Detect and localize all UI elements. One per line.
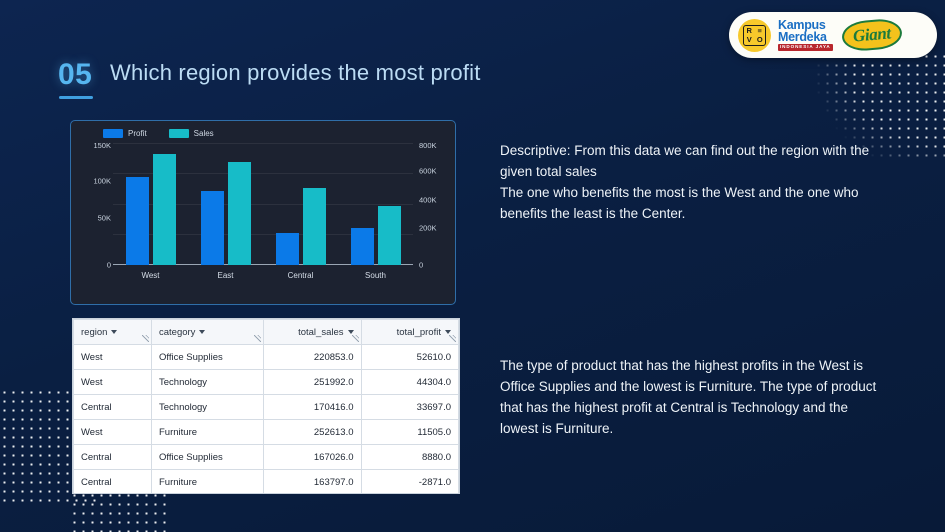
slide-number: 05 bbox=[58, 58, 92, 92]
table-cell-total_profit: 11505.0 bbox=[361, 420, 459, 445]
filter-dropdown-icon[interactable] bbox=[348, 330, 354, 334]
table-cell-total_sales: 167026.0 bbox=[264, 445, 362, 470]
table-cell-total_sales: 220853.0 bbox=[264, 345, 362, 370]
legend-item-sales[interactable]: Sales bbox=[169, 129, 214, 138]
table-body: WestOffice Supplies220853.052610.0WestTe… bbox=[74, 345, 459, 495]
table-cell-category: Office Supplies bbox=[152, 445, 264, 470]
table-cell-total_sales: 170416.0 bbox=[264, 395, 362, 420]
kampus-merdeka-tagline: INDONESIA JAYA bbox=[778, 44, 833, 51]
table-header-label: total_profit bbox=[397, 327, 441, 338]
table-row[interactable]: WestOffice Supplies220853.052610.0 bbox=[74, 345, 459, 370]
table-header-total_profit[interactable]: total_profit bbox=[361, 320, 459, 345]
axis-tick-label: 200K bbox=[419, 223, 437, 232]
slide-number-underline bbox=[59, 96, 93, 99]
slide-canvas: 05 Which region provides the most profit… bbox=[0, 0, 945, 532]
axis-tick-label: 0 bbox=[419, 261, 423, 270]
bar-group-central bbox=[276, 143, 326, 265]
table-cell-region: West bbox=[74, 345, 152, 370]
table-cell-total_profit: 44304.0 bbox=[361, 370, 459, 395]
x-axis-label-central: Central bbox=[271, 271, 331, 280]
bar-profit-central[interactable] bbox=[276, 233, 299, 265]
table-cell-total_profit: 8880.0 bbox=[361, 445, 459, 470]
table-cell-region: West bbox=[74, 370, 152, 395]
table-cell-category: Furniture bbox=[152, 470, 264, 495]
table-cell-total_sales: 163797.0 bbox=[264, 470, 362, 495]
bar-profit-south[interactable] bbox=[351, 228, 374, 265]
axis-tick-label: 0 bbox=[107, 260, 111, 269]
table-header-region[interactable]: region bbox=[74, 320, 152, 345]
table-cell-total_profit: -2871.0 bbox=[361, 470, 459, 495]
table-header-row: regioncategorytotal_salestotal_profit bbox=[74, 320, 459, 345]
revo-letter-v: V bbox=[744, 35, 755, 45]
table-cell-total_profit: 33697.0 bbox=[361, 395, 459, 420]
bar-group-east bbox=[201, 143, 251, 265]
table-cell-total_profit: 52610.0 bbox=[361, 345, 459, 370]
x-axis-label-south: South bbox=[346, 271, 406, 280]
table-header-label: category bbox=[159, 327, 195, 338]
x-axis-label-east: East bbox=[196, 271, 256, 280]
table-cell-category: Technology bbox=[152, 395, 264, 420]
legend-item-profit[interactable]: Profit bbox=[103, 129, 147, 138]
giant-logo-text: Giant bbox=[852, 23, 891, 45]
bar-group-south bbox=[351, 143, 401, 265]
kampus-merdeka-logo: Kampus Merdeka INDONESIA JAYA bbox=[778, 19, 833, 51]
revo-logo-icon: R ≡ V O bbox=[738, 19, 771, 52]
bar-sales-south[interactable] bbox=[378, 206, 401, 265]
bar-sales-east[interactable] bbox=[228, 162, 251, 265]
bar-group-west bbox=[126, 143, 176, 265]
giant-logo: Giant bbox=[840, 17, 902, 52]
table-cell-category: Office Supplies bbox=[152, 345, 264, 370]
chart-plot-area: 150K100K50K0 800K600K400K200K0 WestEastC… bbox=[81, 143, 445, 283]
descriptive-note-bottom: The type of product that has the highest… bbox=[500, 355, 885, 439]
table-row[interactable]: CentralOffice Supplies167026.08880.0 bbox=[74, 445, 459, 470]
kampus-merdeka-line2: Merdeka bbox=[778, 31, 833, 44]
descriptive-note-top: Descriptive: From this data we can find … bbox=[500, 140, 885, 224]
table-cell-category: Furniture bbox=[152, 420, 264, 445]
chart-x-axis: WestEastCentralSouth bbox=[113, 267, 413, 283]
filter-dropdown-icon[interactable] bbox=[199, 330, 205, 334]
axis-tick-label: 800K bbox=[419, 141, 437, 150]
table-cell-region: West bbox=[74, 420, 152, 445]
axis-tick-label: 100K bbox=[93, 176, 111, 185]
bar-profit-east[interactable] bbox=[201, 191, 224, 265]
axis-tick-label: 600K bbox=[419, 167, 437, 176]
data-table-panel[interactable]: regioncategorytotal_salestotal_profit We… bbox=[72, 318, 460, 494]
table-cell-category: Technology bbox=[152, 370, 264, 395]
revo-letter-o: O bbox=[755, 35, 766, 45]
bar-chart-panel: ProfitSales 150K100K50K0 800K600K400K200… bbox=[70, 120, 456, 305]
table-row[interactable]: CentralFurniture163797.0-2871.0 bbox=[74, 470, 459, 495]
filter-dropdown-icon[interactable] bbox=[111, 330, 117, 334]
legend-swatch-icon bbox=[169, 129, 189, 138]
bar-sales-west[interactable] bbox=[153, 154, 176, 265]
table-cell-region: Central bbox=[74, 395, 152, 420]
bar-sales-central[interactable] bbox=[303, 188, 326, 265]
chart-legend: ProfitSales bbox=[103, 129, 445, 138]
column-resize-grip-icon[interactable] bbox=[254, 335, 261, 342]
column-resize-grip-icon[interactable] bbox=[352, 335, 359, 342]
chart-bars bbox=[113, 143, 413, 265]
column-resize-grip-icon[interactable] bbox=[449, 335, 456, 342]
table-row[interactable]: WestFurniture252613.011505.0 bbox=[74, 420, 459, 445]
sponsor-logo-bar: R ≡ V O Kampus Merdeka INDONESIA JAYA Gi… bbox=[729, 12, 937, 58]
table-header-total_sales[interactable]: total_sales bbox=[264, 320, 362, 345]
table-cell-total_sales: 252613.0 bbox=[264, 420, 362, 445]
table-header-label: region bbox=[81, 327, 107, 338]
table-cell-region: Central bbox=[74, 445, 152, 470]
table-header-category[interactable]: category bbox=[152, 320, 264, 345]
chart-right-axis: 800K600K400K200K0 bbox=[415, 143, 445, 265]
axis-tick-label: 50K bbox=[98, 214, 111, 223]
table-row[interactable]: CentralTechnology170416.033697.0 bbox=[74, 395, 459, 420]
table-cell-total_sales: 251992.0 bbox=[264, 370, 362, 395]
revo-letter-r: R bbox=[744, 26, 755, 36]
revo-letter-e: ≡ bbox=[755, 26, 766, 36]
page-title: Which region provides the most profit bbox=[110, 60, 481, 86]
table-row[interactable]: WestTechnology251992.044304.0 bbox=[74, 370, 459, 395]
legend-swatch-icon bbox=[103, 129, 123, 138]
legend-label: Sales bbox=[194, 129, 214, 138]
column-resize-grip-icon[interactable] bbox=[142, 335, 149, 342]
filter-dropdown-icon[interactable] bbox=[445, 330, 451, 334]
axis-tick-label: 400K bbox=[419, 195, 437, 204]
axis-tick-label: 150K bbox=[93, 141, 111, 150]
legend-label: Profit bbox=[128, 129, 147, 138]
table-header-label: total_sales bbox=[298, 327, 343, 338]
table-cell-region: Central bbox=[74, 470, 152, 495]
x-axis-label-west: West bbox=[121, 271, 181, 280]
chart-left-axis: 150K100K50K0 bbox=[81, 143, 111, 265]
bar-profit-west[interactable] bbox=[126, 177, 149, 265]
data-table: regioncategorytotal_salestotal_profit We… bbox=[73, 319, 459, 494]
